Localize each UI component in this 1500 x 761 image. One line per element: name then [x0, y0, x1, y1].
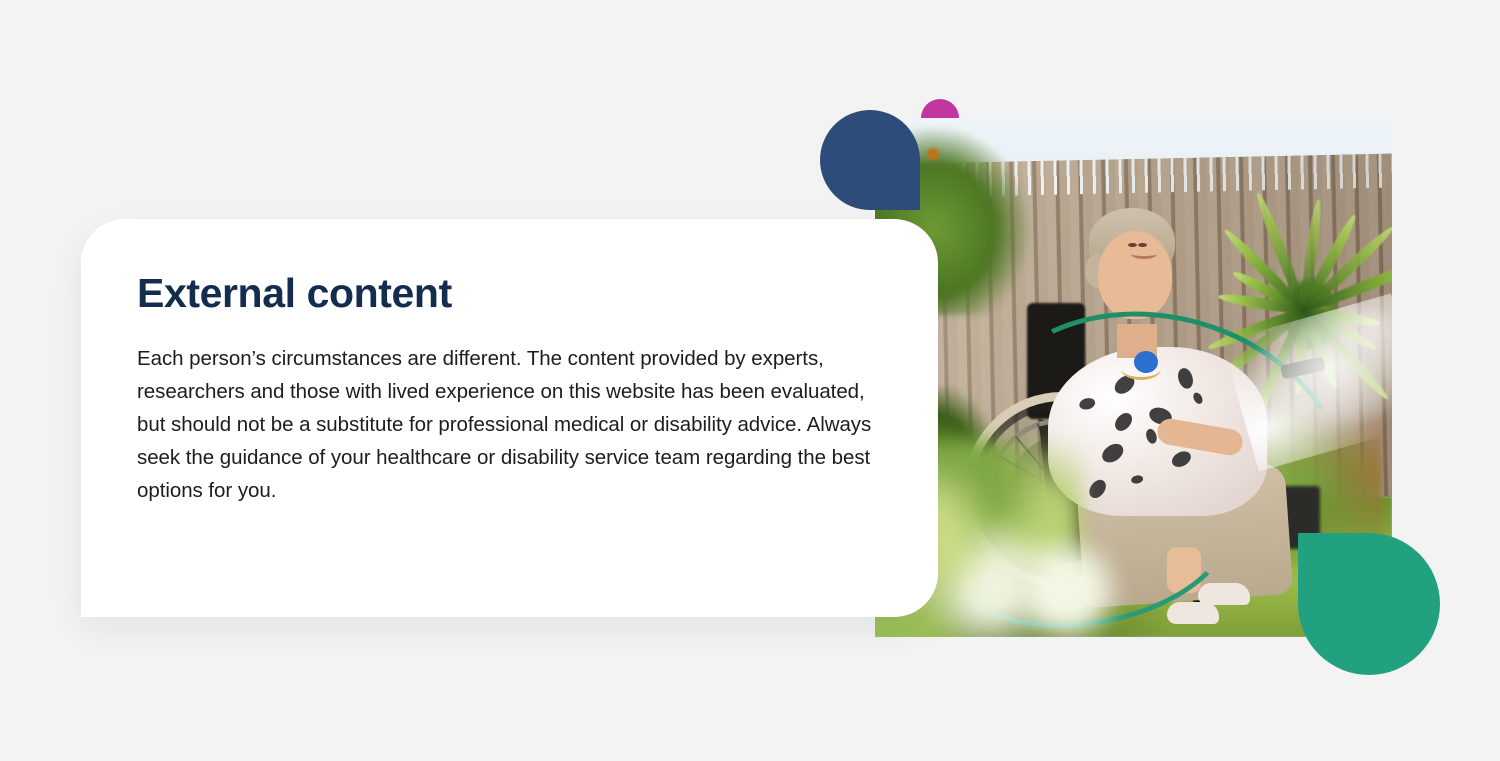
navy-circle-decoration	[820, 110, 920, 210]
hose-connector-knob	[1134, 351, 1158, 373]
foreground-flower-blur	[999, 523, 1133, 637]
magenta-semicircle-decoration	[921, 99, 959, 118]
person-eye-left	[1128, 243, 1137, 247]
external-content-card: External content Each person’s circumsta…	[81, 219, 938, 617]
person-face	[1098, 231, 1172, 319]
person-eye-right	[1138, 243, 1147, 247]
teal-circle-decoration	[1298, 533, 1440, 675]
person-smile	[1131, 249, 1157, 259]
disclaimer-text: Each person’s circumstances are differen…	[137, 342, 880, 507]
berry-fruit	[927, 148, 939, 160]
page-canvas: External content Each person’s circumsta…	[0, 0, 1500, 761]
page-title: External content	[137, 271, 880, 316]
